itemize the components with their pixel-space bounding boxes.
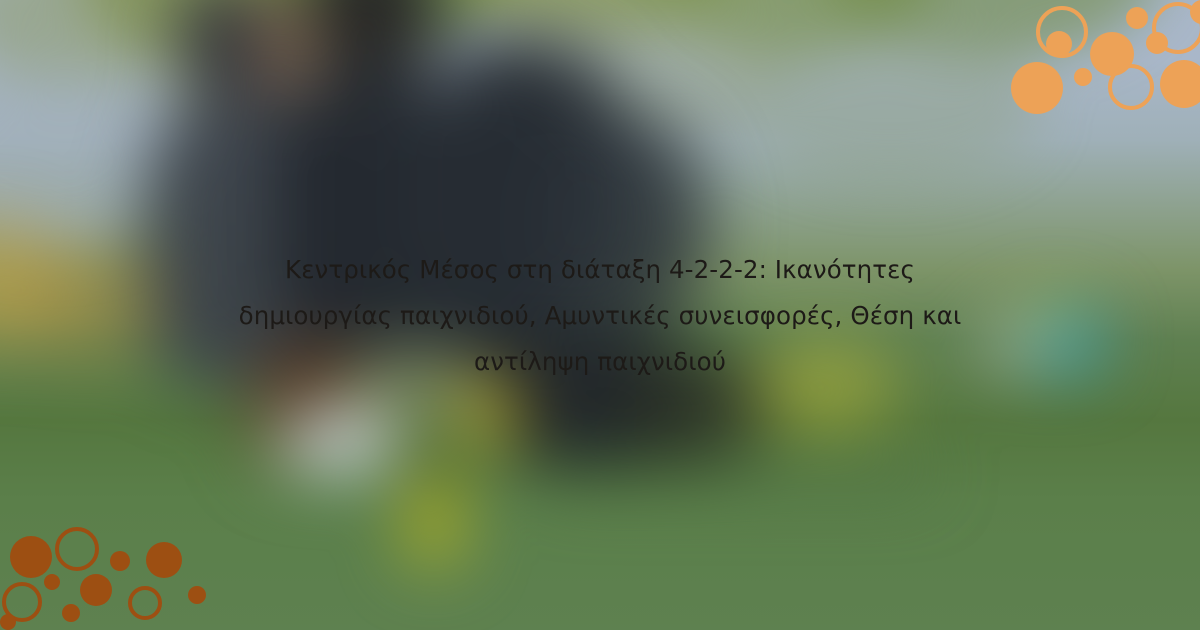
- decor-circle: [188, 586, 206, 604]
- decor-circle: [62, 604, 80, 622]
- decor-circle: [146, 542, 182, 578]
- decor-circle: [1126, 7, 1148, 29]
- banner-title-text: Κεντρικός Μέσος στη διάταξη 4-2-2-2: Ικα…: [220, 247, 980, 385]
- title-banner: Κεντρικός Μέσος στη διάταξη 4-2-2-2: Ικα…: [100, 196, 1100, 436]
- decor-circle: [44, 574, 60, 590]
- decor-circle-ring: [128, 586, 162, 620]
- decor-circle: [1074, 68, 1092, 86]
- share-card: Κεντρικός Μέσος στη διάταξη 4-2-2-2: Ικα…: [0, 0, 1200, 630]
- decor-circle: [80, 574, 112, 606]
- decor-circle: [0, 614, 16, 630]
- decor-circle: [1146, 32, 1168, 54]
- decor-circle: [1160, 60, 1200, 108]
- decor-circle: [110, 551, 130, 571]
- decor-circle: [10, 536, 52, 578]
- decor-circle: [1011, 62, 1063, 114]
- decor-circle-ring: [55, 527, 99, 571]
- decor-circle-ring: [1108, 64, 1154, 110]
- decor-circle-ring: [1036, 6, 1088, 58]
